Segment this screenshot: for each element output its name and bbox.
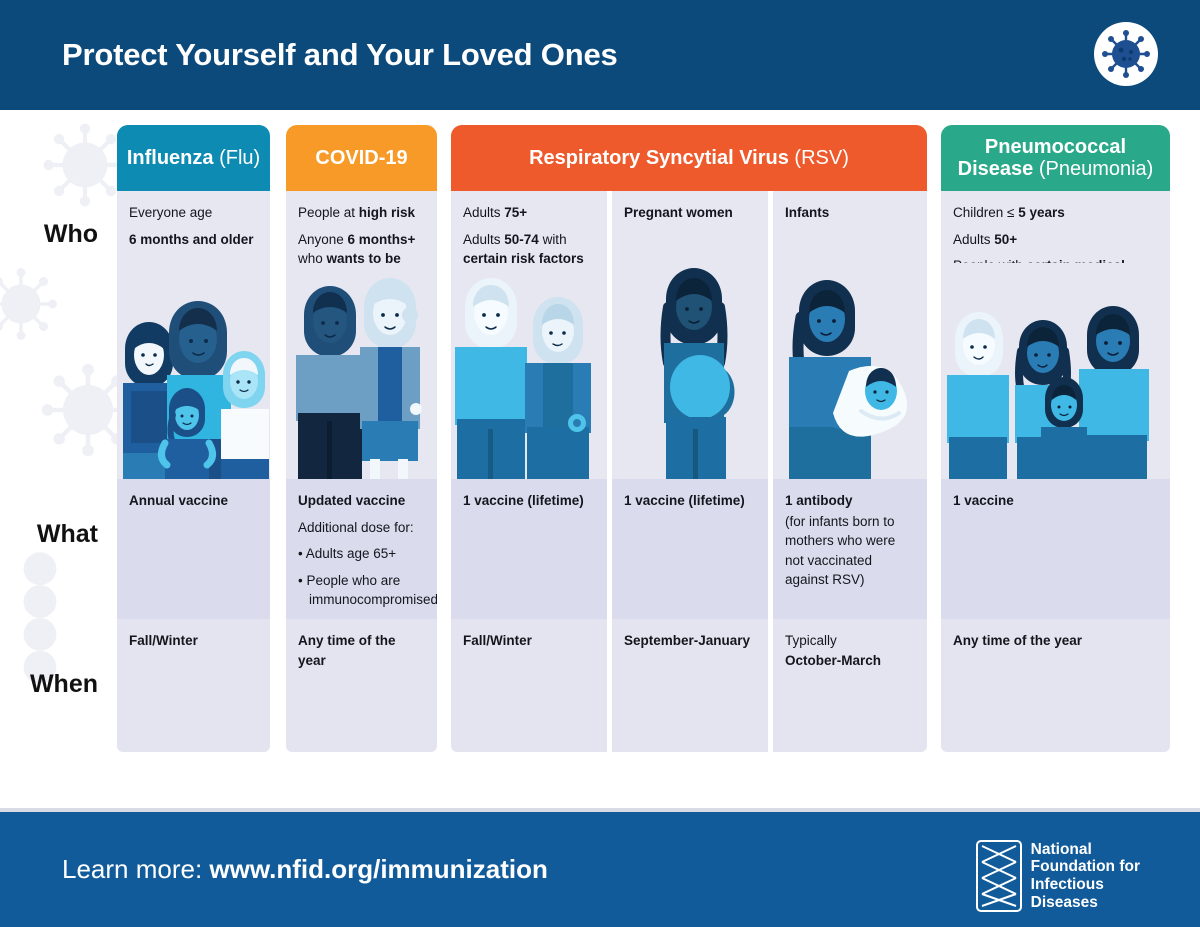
family-of-four-illustration	[117, 263, 270, 479]
cell-what-covid-19: Updated vaccine Additional dose for: • A…	[286, 479, 437, 619]
cell-when-covid-19: Any time of the year	[286, 619, 437, 752]
cell-what-rsv-pregnant-women: 1 vaccine (lifetime)	[612, 479, 768, 619]
row-label-who: Who	[0, 220, 112, 249]
cell-what-rsv-infants: 1 antibody (for infants born to mothers …	[773, 479, 927, 619]
cell-what-pneumococcal: 1 vaccine	[941, 479, 1170, 619]
column-rsv[interactable]: Respiratory Syncytial Virus (RSV) Adults…	[451, 125, 927, 752]
column-header-pneumococcal: Pneumococcal Disease (Pneumonia)	[941, 125, 1170, 191]
column-header-influenza: Influenza (Flu)	[117, 125, 270, 191]
subcolumn-rsv-older-adults[interactable]: Adults 75+ Adults 50-74 with certain ris…	[451, 191, 607, 752]
column-header-rsv: Respiratory Syncytial Virus (RSV)	[451, 125, 927, 191]
column-title-light: (RSV)	[794, 147, 848, 169]
row-label-when: When	[0, 670, 112, 699]
column-title-bold: COVID-19	[315, 147, 407, 169]
column-header-covid-19: COVID-19	[286, 125, 437, 191]
when-line: Any time of the year	[953, 631, 1158, 651]
virus-icon	[1094, 22, 1158, 86]
mother-and-infant-illustration	[773, 263, 927, 479]
nfid-logo-line: National	[1031, 841, 1140, 859]
row-label-what: What	[0, 520, 112, 549]
who-line: 6 months and older	[129, 230, 258, 250]
who-line: Adults 50+	[953, 230, 1158, 250]
column-title-bold: Influenza	[127, 147, 214, 169]
cell-when-rsv-pregnant-women: September-January	[612, 619, 768, 752]
cell-who-covid-19: People at high risk Anyone 6 months+ who…	[286, 191, 437, 263]
column-influenza[interactable]: Influenza (Flu) Everyone age 6 months an…	[117, 125, 270, 752]
what-line: • People who are immunocompromised	[298, 571, 425, 610]
who-line: Pregnant women	[624, 203, 756, 223]
when-line: Fall/Winter	[463, 631, 595, 651]
cell-who-rsv-infants: Infants	[773, 191, 927, 263]
when-line: October-March	[785, 651, 917, 671]
virus-decoration-icon	[0, 265, 60, 343]
cell-when-pneumococcal: Any time of the year	[941, 619, 1170, 752]
column-pneumococcal[interactable]: Pneumococcal Disease (Pneumonia) Childre…	[941, 125, 1170, 752]
column-covid-19[interactable]: COVID-19 People at high risk Anyone 6 mo…	[286, 125, 437, 752]
cell-what-rsv-older-adults: 1 vaccine (lifetime)	[451, 479, 607, 619]
who-line: Infants	[785, 203, 917, 223]
cell-who-pneumococcal: Children ≤ 5 years Adults 50+ People wit…	[941, 191, 1170, 263]
learn-more-text: Learn more: www.nfid.org/immunization	[62, 854, 548, 885]
who-line: Adults 75+	[463, 203, 595, 223]
cell-who-rsv-pregnant-women: Pregnant women	[612, 191, 768, 263]
cell-when-rsv-older-adults: Fall/Winter	[451, 619, 607, 752]
nfid-logo-line: Infectious	[1031, 876, 1140, 894]
older-couple-illustration	[451, 263, 607, 479]
family-group-illustration	[941, 263, 1170, 479]
learn-more-label: Learn more:	[62, 854, 202, 884]
nfid-logo-line: Diseases	[1031, 894, 1140, 912]
nfid-dna-icon	[976, 840, 1022, 912]
what-line: (for infants born to mothers who were no…	[785, 512, 917, 590]
page-title: Protect Yourself and Your Loved Ones	[62, 37, 618, 73]
what-line: 1 vaccine	[953, 491, 1158, 511]
who-line: Children ≤ 5 years	[953, 203, 1158, 223]
cell-who-rsv-older-adults: Adults 75+ Adults 50-74 with certain ris…	[451, 191, 607, 263]
infographic-body: Who What When Influenza (Flu) Everyone a…	[0, 110, 1200, 810]
two-adults-illustration	[286, 263, 437, 479]
who-line: People at high risk	[298, 203, 425, 223]
what-line: • Adults age 65+	[298, 544, 425, 564]
page-footer: Learn more: www.nfid.org/immunization Na…	[0, 812, 1200, 927]
column-title-light: (Pneumonia)	[1039, 158, 1154, 180]
cell-what-influenza: Annual vaccine	[117, 479, 270, 619]
nfid-url-link[interactable]: www.nfid.org/immunization	[209, 854, 547, 884]
nfid-logo[interactable]: National Foundation for Infectious Disea…	[976, 840, 1140, 912]
nfid-logo-line: Foundation for	[1031, 858, 1140, 876]
what-line: Updated vaccine	[298, 491, 425, 511]
what-line: 1 vaccine (lifetime)	[463, 491, 595, 511]
when-line: Any time of the year	[298, 631, 425, 670]
when-line: September-January	[624, 631, 756, 651]
what-line: 1 vaccine (lifetime)	[624, 491, 756, 511]
what-line: Annual vaccine	[129, 491, 258, 511]
subcolumn-rsv-infants[interactable]: Infants	[773, 191, 927, 752]
what-line: Additional dose for:	[298, 518, 425, 538]
nfid-wordmark: National Foundation for Infectious Disea…	[1031, 841, 1140, 912]
when-line: Fall/Winter	[129, 631, 258, 651]
column-title-bold: Respiratory Syncytial Virus	[529, 147, 789, 169]
column-title-light: (Flu)	[219, 147, 260, 169]
page-header: Protect Yourself and Your Loved Ones	[0, 0, 1200, 110]
cell-when-rsv-infants: Typically October-March	[773, 619, 927, 752]
subcolumn-rsv-pregnant-women[interactable]: Pregnant women	[612, 191, 768, 752]
pregnant-woman-illustration	[612, 263, 768, 479]
cell-when-influenza: Fall/Winter	[117, 619, 270, 752]
when-line: Typically	[785, 631, 917, 651]
who-line: Everyone age	[129, 203, 258, 223]
what-line: 1 antibody	[785, 491, 917, 511]
cell-who-influenza: Everyone age 6 months and older	[117, 191, 270, 263]
